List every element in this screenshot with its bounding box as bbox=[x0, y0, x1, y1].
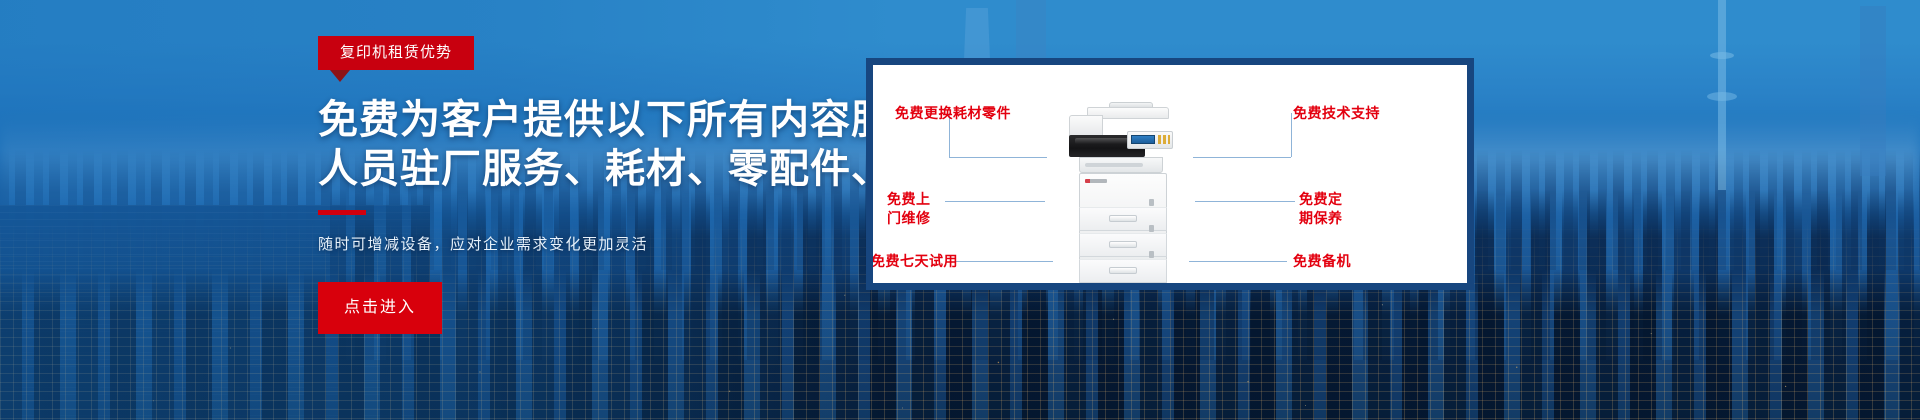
landmark-tower-right bbox=[1860, 6, 1886, 176]
copier-output-slot bbox=[1085, 163, 1143, 167]
leader-line-tech-support-horizontal bbox=[1193, 157, 1291, 158]
service-diagram-panel: 免费更换耗材零件 免费技术支持 免费上门维修 免费定期保养 免费七天试用 免费备… bbox=[866, 58, 1474, 290]
copier-drawer-handle-2 bbox=[1109, 241, 1137, 248]
label-tech-support: 免费技术支持 bbox=[1293, 105, 1380, 124]
copier-band-highlight bbox=[1075, 138, 1133, 144]
headline-line-2: 人员驻厂服务、耗材、零配件、人工费 bbox=[318, 145, 878, 194]
title-divider bbox=[318, 210, 366, 215]
label-onsite-repair: 免费上门维修 bbox=[887, 191, 941, 229]
copier-drawer-handle-3 bbox=[1109, 267, 1137, 274]
headline-line-1: 免费为客户提供以下所有内容服务： bbox=[318, 96, 878, 145]
copier-rental-banner: 复印机租赁优势 免费为客户提供以下所有内容服务： 人员驻厂服务、耗材、零配件、人… bbox=[0, 0, 1920, 420]
leader-line-seven-day-trial bbox=[955, 261, 1053, 262]
copier-indicator-1 bbox=[1149, 199, 1154, 206]
page-title: 免费为客户提供以下所有内容服务： 人员驻厂服务、耗材、零配件、人工费 bbox=[318, 96, 878, 194]
leader-line-onsite-repair bbox=[945, 201, 1045, 202]
copier-keypad bbox=[1158, 135, 1170, 144]
label-spare-machine: 免费备机 bbox=[1293, 253, 1351, 272]
landmark-tv-tower bbox=[1718, 0, 1726, 190]
copier-brand-logo bbox=[1085, 179, 1107, 183]
label-regular-maintenance: 免费定期保养 bbox=[1299, 191, 1353, 229]
copier-drawer-handle-1 bbox=[1109, 215, 1137, 222]
enter-button[interactable]: 点击进入 bbox=[318, 282, 442, 334]
banner-subtitle: 随时可增减设备，应对企业需求变化更加灵活 bbox=[318, 233, 878, 254]
copier-icon bbox=[1069, 107, 1173, 283]
service-diagram-canvas: 免费更换耗材零件 免费技术支持 免费上门维修 免费定期保养 免费七天试用 免费备… bbox=[873, 65, 1467, 283]
leader-line-regular-maintenance bbox=[1195, 201, 1295, 202]
leader-line-spare-machine bbox=[1189, 261, 1287, 262]
label-seven-day-trial: 免费七天试用 bbox=[873, 253, 958, 272]
banner-copy-column: 复印机租赁优势 免费为客户提供以下所有内容服务： 人员驻厂服务、耗材、零配件、人… bbox=[318, 36, 878, 334]
advantage-badge: 复印机租赁优势 bbox=[318, 36, 474, 70]
label-replace-consumables: 免费更换耗材零件 bbox=[895, 105, 1011, 124]
leader-line-tech-support-vertical bbox=[1291, 113, 1292, 157]
copier-scanner-wing bbox=[1069, 115, 1103, 137]
copier-indicator-3 bbox=[1149, 251, 1154, 258]
copier-indicator-2 bbox=[1149, 225, 1154, 232]
leader-line-replace-consumables-horizontal bbox=[949, 157, 1047, 158]
copier-touchscreen bbox=[1131, 135, 1155, 144]
